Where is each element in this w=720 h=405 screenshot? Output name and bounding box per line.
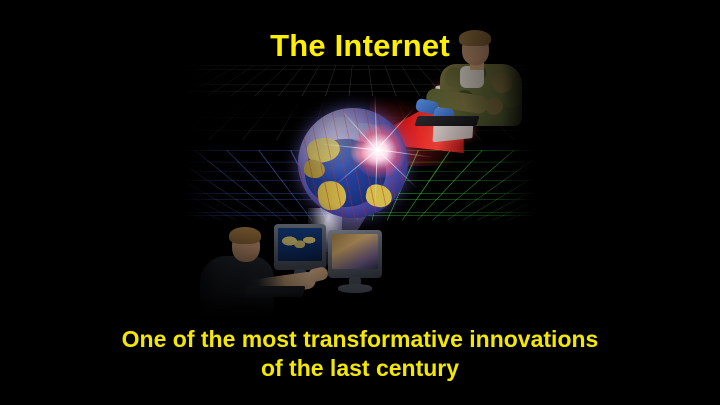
- caption-line-2: of the last century: [0, 354, 720, 383]
- caption-line-1: One of the most transformative innovatio…: [0, 325, 720, 354]
- slide-caption: One of the most transformative innovatio…: [0, 325, 720, 383]
- slide-title: The Internet: [0, 30, 720, 61]
- slide-canvas: The Internet One of the most transformat…: [0, 0, 720, 405]
- artwork-bottom-fade: [182, 292, 536, 318]
